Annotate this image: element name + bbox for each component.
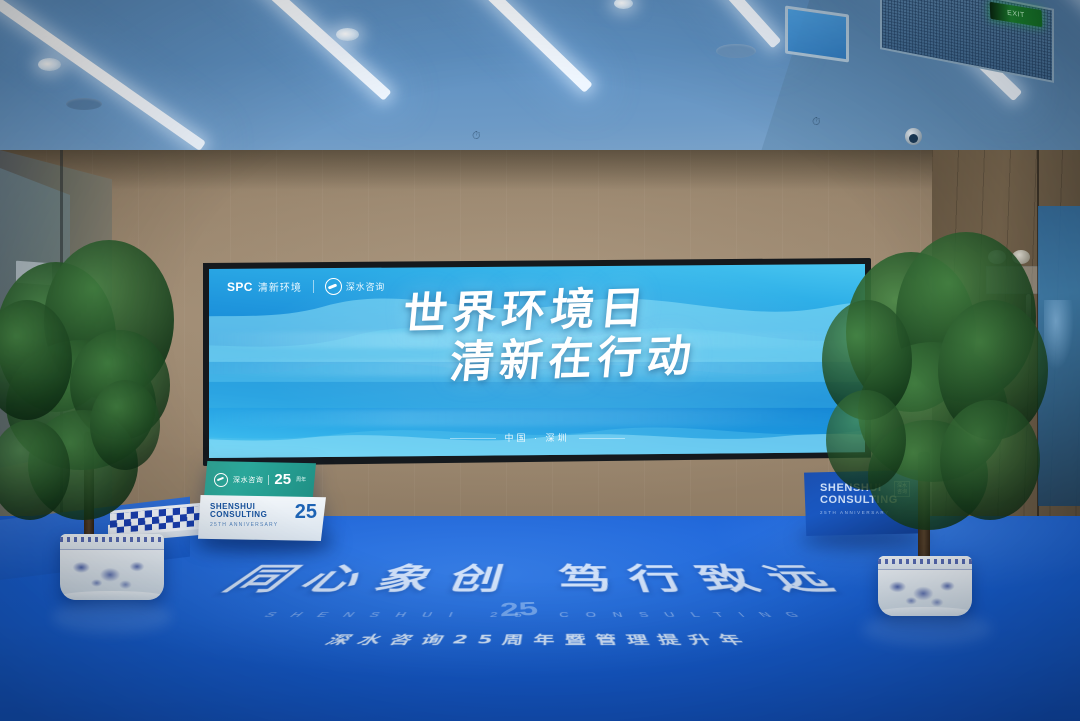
sprinkler-head-icon: ⏱ bbox=[472, 130, 481, 143]
podium-left-top-row: 深水咨询 25 周年 bbox=[214, 472, 306, 487]
podium-left-front-sub: 25TH ANNIVERSARY bbox=[210, 522, 278, 528]
ceiling-speaker-icon bbox=[716, 44, 756, 58]
lobby-event-scene: ⏱ ⏱ ⏱ EXIT bbox=[0, 0, 1080, 721]
linear-led-strip-icon bbox=[138, 0, 391, 101]
planter-rim-pattern bbox=[878, 559, 972, 564]
planter-rim bbox=[878, 556, 972, 570]
planter-blue-motif bbox=[64, 551, 160, 592]
led-screen: SPC 清新环境 深水咨询 世界环境日 清新在行动 中国 · 深圳 bbox=[209, 264, 865, 458]
podium-left-top-chinese: 深水咨询 bbox=[233, 475, 263, 485]
podium-left-divider bbox=[268, 475, 269, 485]
porcelain-planter-left bbox=[60, 534, 164, 600]
exit-sign-label: EXIT bbox=[1007, 10, 1025, 20]
planter-rim-pattern bbox=[60, 537, 164, 542]
recessed-downlight-icon bbox=[38, 58, 61, 71]
recessed-downlight-icon bbox=[336, 28, 359, 41]
screen-subtitle: 中国 · 深圳 bbox=[209, 431, 865, 444]
podium-left: 深水咨询 25 周年 SHENSHUI CONSULTING 25TH ANNI… bbox=[204, 461, 316, 539]
recessed-downlight-icon bbox=[614, 0, 633, 9]
headline-line-2: 清新在行动 bbox=[278, 330, 865, 390]
podium-left-front-line2: CONSULTING bbox=[210, 511, 278, 519]
podium-left-anniversary: 25 bbox=[274, 472, 291, 487]
wall-top-shadow bbox=[0, 150, 1080, 190]
linear-led-strip-icon bbox=[0, 0, 206, 151]
planter-rim bbox=[60, 534, 164, 550]
planter-blue-motif bbox=[882, 572, 968, 609]
podium-left-anniversary-sub: 周年 bbox=[296, 476, 306, 483]
podium-left-front-number: 25 bbox=[295, 502, 317, 522]
ceiling-speaker-icon bbox=[66, 98, 102, 110]
podium-left-top: 深水咨询 25 周年 bbox=[204, 461, 316, 499]
podium-left-front-text: SHENSHUI CONSULTING 25TH ANNIVERSARY bbox=[210, 503, 278, 528]
podium-left-front: SHENSHUI CONSULTING 25TH ANNIVERSARY 25 bbox=[198, 495, 326, 541]
tree-canopy bbox=[826, 390, 906, 490]
water-wave-band bbox=[209, 410, 865, 426]
floor-reflection bbox=[862, 612, 992, 646]
porcelain-planter-right bbox=[878, 556, 972, 616]
ceiling-skylight-panel bbox=[785, 6, 849, 63]
tree-canopy bbox=[940, 400, 1040, 520]
security-camera-icon bbox=[905, 128, 922, 145]
tree-canopy bbox=[90, 380, 160, 470]
shenshui-logo-mark-icon bbox=[214, 473, 228, 487]
screen-headline: 世界环境日 清新在行动 bbox=[209, 290, 865, 382]
linear-led-strip-icon bbox=[347, 0, 593, 93]
planter-saucer bbox=[60, 591, 164, 600]
sprinkler-head-icon: ⏱ bbox=[812, 116, 821, 129]
floor-reflection bbox=[52, 600, 172, 634]
glass-reflection bbox=[1044, 300, 1074, 370]
